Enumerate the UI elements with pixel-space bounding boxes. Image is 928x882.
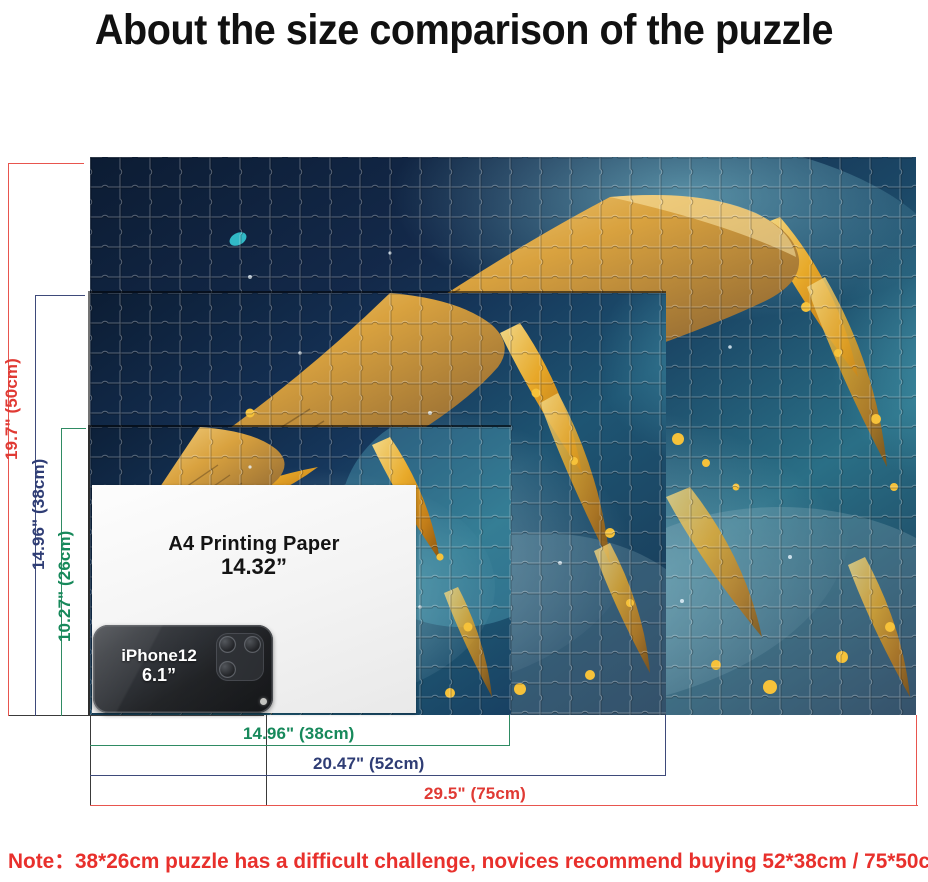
dimension-label-width-medium: 20.47" (52cm) bbox=[313, 754, 424, 774]
baseline-horizontal bbox=[8, 715, 264, 716]
dimension-label-height-medium: 14.96" (38cm) bbox=[29, 459, 49, 570]
iphone-label-line1: iPhone12 bbox=[93, 647, 225, 666]
dimension-label-height-large: 19.7" (50cm) bbox=[2, 358, 22, 460]
dimension-anchor-left bbox=[90, 715, 91, 805]
dimension-cap-top-small bbox=[61, 428, 86, 429]
dimension-cap-right-medium bbox=[665, 715, 666, 776]
dimension-line-width-small bbox=[90, 745, 510, 746]
note-text: Note：38*26cm puzzle has a difficult chal… bbox=[8, 845, 911, 875]
dimension-label-width-large: 29.5" (75cm) bbox=[424, 784, 526, 804]
dimension-label-height-small: 10.27" (26cm) bbox=[55, 531, 75, 642]
a4-paper-label-line1: A4 Printing Paper bbox=[92, 533, 416, 555]
dimension-cap-top-large bbox=[8, 163, 84, 164]
dimension-cap-top-medium bbox=[35, 295, 85, 296]
dimension-line-width-medium bbox=[90, 775, 666, 776]
size-comparison-diagram: A4 Printing Paper 14.32” iPhone12 6.1” 1… bbox=[0, 0, 928, 882]
dimension-cap-right-large bbox=[916, 715, 917, 806]
iphone-label-line2: 6.1” bbox=[93, 666, 225, 686]
iphone-reference: iPhone12 6.1” bbox=[93, 625, 273, 713]
iphone-label: iPhone12 6.1” bbox=[93, 647, 225, 685]
dimension-cap-right-small bbox=[509, 715, 510, 746]
a4-paper-label-line2: 14.32” bbox=[92, 555, 416, 580]
dimension-label-width-small: 14.96" (38cm) bbox=[243, 724, 354, 744]
a4-paper-label: A4 Printing Paper 14.32” bbox=[92, 533, 416, 580]
dimension-line-width-large bbox=[90, 805, 918, 806]
